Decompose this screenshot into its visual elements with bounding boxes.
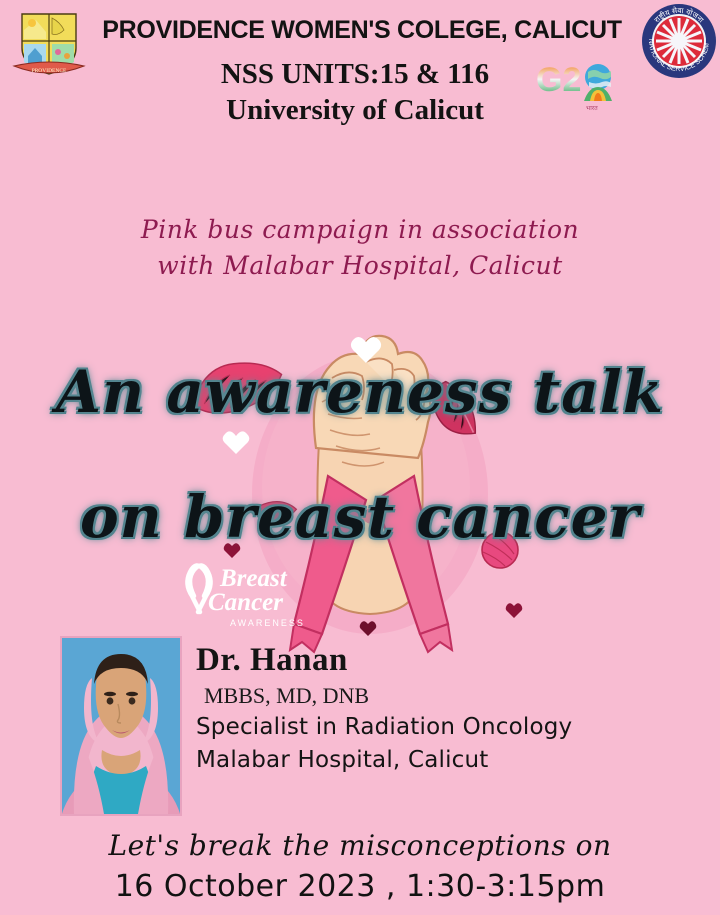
speaker-affiliation: Malabar Hospital, Calicut (196, 744, 696, 777)
main-title-line-1: An awareness talk (0, 330, 720, 455)
speaker-role: Specialist in Radiation Oncology (196, 711, 696, 744)
svg-text:PROVIDENCE: PROVIDENCE (32, 68, 67, 74)
poster-header: PROVIDENCE PROVIDENCE WOMEN'S COLEGE, CA… (0, 0, 720, 140)
heart-dark-right (506, 603, 523, 618)
footer-tagline: Let's break the misconceptions on (0, 826, 720, 866)
poster-footer: Let's break the misconceptions on 16 Oct… (0, 826, 720, 908)
speaker-details: Dr. Hanan MBBS, MD, DNB Specialist in Ra… (196, 640, 696, 777)
poster-canvas: PROVIDENCE PROVIDENCE WOMEN'S COLEGE, CA… (0, 0, 720, 915)
speaker-qualifications: MBBS, MD, DNB (196, 680, 696, 711)
event-date-time: 16 October 2023 , 1:30-3:15pm (0, 866, 720, 908)
main-title-line-2: on breast cancer (0, 455, 720, 580)
university-label: University of Calicut (160, 94, 550, 127)
g20-logo-icon: G2 भारत (534, 57, 638, 113)
page-title: PROVIDENCE WOMEN'S COLEGE, CALICUT (88, 16, 636, 45)
nss-logo-icon: राष्ट्रीय सेवा योजना NATIONAL SERVICE SC… (640, 2, 718, 80)
awareness-line-2: Cancer (208, 589, 283, 616)
campaign-subtitle: Pink bus campaign in association with Ma… (60, 212, 660, 284)
svg-text:भारत: भारत (586, 106, 598, 112)
subtitle-line-2: with Malabar Hospital, Calicut (60, 248, 660, 284)
speaker-name: Dr. Hanan (196, 640, 696, 680)
subtitle-line-1: Pink bus campaign in association (60, 212, 660, 248)
awareness-line-3: AWARENESS (230, 618, 305, 628)
nss-units-label: NSS UNITS:15 & 116 (160, 58, 550, 91)
speaker-photo (60, 636, 182, 816)
main-title: An awareness talk on breast cancer (0, 330, 720, 580)
college-crest-icon: PROVIDENCE (10, 8, 88, 80)
svg-text:G2: G2 (536, 61, 581, 99)
